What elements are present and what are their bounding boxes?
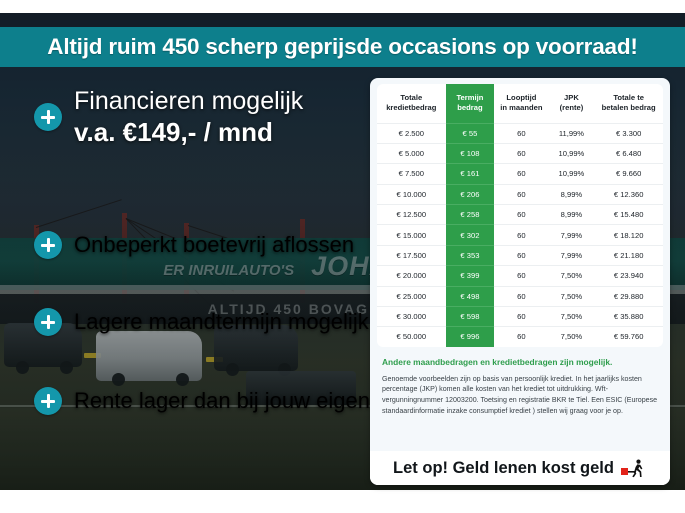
geld-lenen-kost-geld-logo-icon bbox=[621, 459, 647, 478]
cell-krediet: € 50.000 bbox=[377, 327, 446, 347]
table-row: € 10.000€ 206608,99%€ 12.360 bbox=[377, 184, 663, 204]
bullet-1-line-1: Financieren mogelijk bbox=[74, 87, 303, 115]
cell-termijn: € 302 bbox=[446, 225, 495, 245]
cell-looptijd: 60 bbox=[494, 306, 548, 326]
cell-krediet: € 20.000 bbox=[377, 266, 446, 286]
disclaimer-body: Genoemde voorbeelden zijn op basis van p… bbox=[382, 374, 658, 417]
table-row: € 20.000€ 399607,50%€ 23.940 bbox=[377, 266, 663, 286]
parked-car bbox=[96, 331, 202, 381]
col-header-looptijd: Looptijd in maanden bbox=[494, 84, 548, 123]
headline-banner: Altijd ruim 450 scherp geprijsde occasio… bbox=[0, 27, 685, 67]
finance-table-wrapper: Totale kredietbedrag Termijn bedrag Loop… bbox=[377, 84, 663, 347]
cell-termijn: € 161 bbox=[446, 164, 495, 184]
cell-looptijd: 60 bbox=[494, 205, 548, 225]
col-header-termijn: Termijn bedrag bbox=[446, 84, 495, 123]
cell-totaal: € 9.660 bbox=[594, 164, 663, 184]
cell-krediet: € 2.500 bbox=[377, 123, 446, 143]
list-item: Financieren mogelijk v.a. €149,- / mnd bbox=[34, 86, 364, 149]
headline-text: Altijd ruim 450 scherp geprijsde occasio… bbox=[47, 34, 637, 60]
cell-jpk: 7,50% bbox=[549, 327, 595, 347]
cell-termijn: € 258 bbox=[446, 205, 495, 225]
table-body: € 2.500€ 556011,99%€ 3.300€ 5.000€ 10860… bbox=[377, 123, 663, 347]
advertisement-poster: ER INRUILAUTO'S JOHAN MEURE ALTIJD 450 B… bbox=[0, 0, 685, 513]
cell-looptijd: 60 bbox=[494, 143, 548, 163]
cell-krediet: € 25.000 bbox=[377, 286, 446, 306]
bullet-2-label: Onbeperkt boetevrij aflossen bbox=[74, 232, 354, 258]
cell-jpk: 10,99% bbox=[549, 143, 595, 163]
credit-warning: Let op! Geld lenen kost geld bbox=[370, 451, 670, 485]
cell-krediet: € 5.000 bbox=[377, 143, 446, 163]
col-header-jpk: JPK (rente) bbox=[549, 84, 595, 123]
cell-jpk: 8,99% bbox=[549, 205, 595, 225]
cell-totaal: € 35.880 bbox=[594, 306, 663, 326]
col-header-krediet: Totale kredietbedrag bbox=[377, 84, 446, 123]
cell-jpk: 7,99% bbox=[549, 225, 595, 245]
list-item: Lagere maandtermijn mogelijk bbox=[34, 308, 369, 336]
cell-jpk: 7,99% bbox=[549, 245, 595, 265]
table-header-row: Totale kredietbedrag Termijn bedrag Loop… bbox=[377, 84, 663, 123]
cell-totaal: € 12.360 bbox=[594, 184, 663, 204]
plus-icon bbox=[34, 387, 62, 415]
sign-prefix: ER INRUILAUTO'S bbox=[163, 262, 294, 279]
cell-jpk: 7,50% bbox=[549, 266, 595, 286]
cell-krediet: € 30.000 bbox=[377, 306, 446, 326]
cell-termijn: € 206 bbox=[446, 184, 495, 204]
list-item: Onbeperkt boetevrij aflossen bbox=[34, 231, 354, 259]
table-row: € 7.500€ 1616010,99%€ 9.660 bbox=[377, 164, 663, 184]
bullet-1-line-2: v.a. €149,- / mnd bbox=[74, 117, 273, 147]
cell-totaal: € 6.480 bbox=[594, 143, 663, 163]
table-row: € 5.000€ 1086010,99%€ 6.480 bbox=[377, 143, 663, 163]
finance-table: Totale kredietbedrag Termijn bedrag Loop… bbox=[377, 84, 663, 347]
cell-looptijd: 60 bbox=[494, 184, 548, 204]
cell-termijn: € 598 bbox=[446, 306, 495, 326]
table-row: € 30.000€ 598607,50%€ 35.880 bbox=[377, 306, 663, 326]
cell-looptijd: 60 bbox=[494, 266, 548, 286]
list-item: Rente lager dan bij jouw eigen bank bbox=[34, 387, 424, 415]
table-row: € 17.500€ 353607,99%€ 21.180 bbox=[377, 245, 663, 265]
cell-krediet: € 12.500 bbox=[377, 205, 446, 225]
cell-krediet: € 7.500 bbox=[377, 164, 446, 184]
table-row: € 12.500€ 258608,99%€ 15.480 bbox=[377, 205, 663, 225]
bullet-3-label: Lagere maandtermijn mogelijk bbox=[74, 309, 369, 335]
cell-totaal: € 59.760 bbox=[594, 327, 663, 347]
table-row: € 15.000€ 302607,99%€ 18.120 bbox=[377, 225, 663, 245]
cell-jpk: 11,99% bbox=[549, 123, 595, 143]
cell-totaal: € 18.120 bbox=[594, 225, 663, 245]
cell-totaal: € 23.940 bbox=[594, 266, 663, 286]
cell-krediet: € 10.000 bbox=[377, 184, 446, 204]
cell-termijn: € 55 bbox=[446, 123, 495, 143]
cell-totaal: € 21.180 bbox=[594, 245, 663, 265]
cell-looptijd: 60 bbox=[494, 123, 548, 143]
plus-icon bbox=[34, 103, 62, 131]
table-row: € 50.000€ 996607,50%€ 59.760 bbox=[377, 327, 663, 347]
cell-termijn: € 996 bbox=[446, 327, 495, 347]
cell-looptijd: 60 bbox=[494, 286, 548, 306]
cell-jpk: 8,99% bbox=[549, 184, 595, 204]
table-header: Totale kredietbedrag Termijn bedrag Loop… bbox=[377, 84, 663, 123]
cell-looptijd: 60 bbox=[494, 164, 548, 184]
credit-warning-text: Let op! Geld lenen kost geld bbox=[393, 459, 614, 478]
plus-icon bbox=[34, 231, 62, 259]
cell-krediet: € 15.000 bbox=[377, 225, 446, 245]
cell-termijn: € 399 bbox=[446, 266, 495, 286]
cell-termijn: € 108 bbox=[446, 143, 495, 163]
disclaimer-note: Andere maandbedragen en kredietbedragen … bbox=[370, 347, 670, 417]
cell-totaal: € 15.480 bbox=[594, 205, 663, 225]
cell-totaal: € 3.300 bbox=[594, 123, 663, 143]
cell-looptijd: 60 bbox=[494, 245, 548, 265]
col-header-totaal: Totale te betalen bedrag bbox=[594, 84, 663, 123]
table-row: € 2.500€ 556011,99%€ 3.300 bbox=[377, 123, 663, 143]
cell-jpk: 7,50% bbox=[549, 286, 595, 306]
cell-termijn: € 498 bbox=[446, 286, 495, 306]
cell-looptijd: 60 bbox=[494, 225, 548, 245]
cell-jpk: 7,50% bbox=[549, 306, 595, 326]
cell-krediet: € 17.500 bbox=[377, 245, 446, 265]
finance-table-card: Totale kredietbedrag Termijn bedrag Loop… bbox=[370, 78, 670, 485]
cell-termijn: € 353 bbox=[446, 245, 495, 265]
cell-looptijd: 60 bbox=[494, 327, 548, 347]
disclaimer-heading: Andere maandbedragen en kredietbedragen … bbox=[382, 357, 658, 368]
cell-totaal: € 29.880 bbox=[594, 286, 663, 306]
cell-jpk: 10,99% bbox=[549, 164, 595, 184]
table-row: € 25.000€ 498607,50%€ 29.880 bbox=[377, 286, 663, 306]
plus-icon bbox=[34, 308, 62, 336]
